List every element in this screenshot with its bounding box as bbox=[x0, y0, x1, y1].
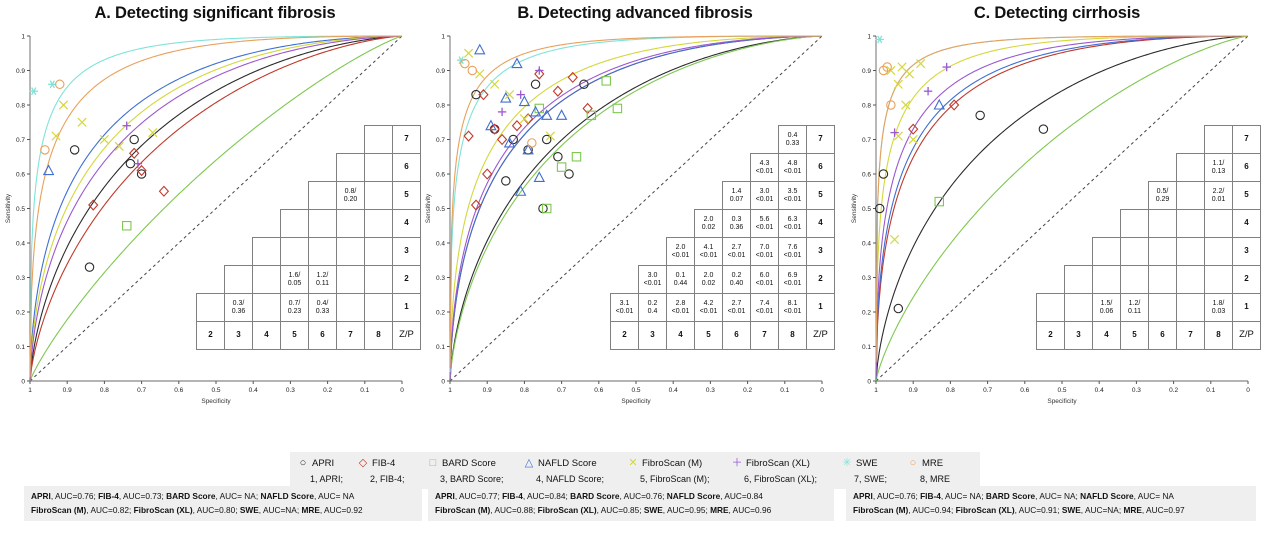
stats-cell-empty bbox=[1121, 154, 1149, 182]
stats-row-header: 5 bbox=[807, 182, 835, 210]
stats-cell-empty bbox=[695, 126, 723, 154]
square-icon: □ bbox=[426, 458, 440, 469]
auc-test-name: FibroScan (XL) bbox=[538, 505, 597, 515]
stats-col-header: 3 bbox=[225, 322, 253, 350]
stats-cell bbox=[281, 210, 309, 238]
svg-text:0.8: 0.8 bbox=[436, 102, 445, 109]
svg-text:0.8: 0.8 bbox=[520, 387, 529, 394]
legend-label: MRE bbox=[922, 458, 943, 469]
stats-cell: 4.1<0.01 bbox=[695, 238, 723, 266]
stats-cell: 0.4/0.33 bbox=[309, 294, 337, 322]
stats-cell-empty bbox=[1065, 210, 1093, 238]
legend-label: FibroScan (XL) bbox=[746, 458, 810, 469]
stats-col-header: 8 bbox=[365, 322, 393, 350]
stats-cell bbox=[253, 238, 281, 266]
stats-cell-empty bbox=[1121, 126, 1149, 154]
stats-corner-label: Z/P bbox=[807, 322, 835, 350]
stats-cell bbox=[1205, 126, 1233, 154]
circle-icon: ○ bbox=[296, 458, 310, 469]
auc-test-name: FIB-4 bbox=[920, 491, 941, 501]
legend-item-swe: ✳SWE bbox=[840, 458, 906, 469]
stats-cell-empty bbox=[197, 126, 225, 154]
svg-text:1: 1 bbox=[28, 387, 32, 394]
auc-value: , AUC=0.82; bbox=[86, 505, 133, 515]
stats-cell-empty bbox=[1121, 182, 1149, 210]
stats-row-header: 5 bbox=[393, 182, 421, 210]
stats-cell: 1.8/0.03 bbox=[1205, 294, 1233, 322]
auc-value: , AUC=0.76; bbox=[873, 491, 920, 501]
stats-cell-empty bbox=[667, 182, 695, 210]
auc-test-name: NAFLD Score bbox=[1080, 491, 1133, 501]
svg-text:0.9: 0.9 bbox=[436, 68, 445, 75]
auc-line: APRI, AUC=0.76; FIB-4, AUC=0.73; BARD Sc… bbox=[31, 490, 415, 504]
stats-row-header: 6 bbox=[393, 154, 421, 182]
svg-text:0: 0 bbox=[441, 378, 445, 385]
stats-row-header: 7 bbox=[807, 126, 835, 154]
stats-cell bbox=[365, 266, 393, 294]
svg-text:0.4: 0.4 bbox=[436, 240, 445, 247]
diamond-icon: ◇ bbox=[356, 458, 370, 469]
svg-text:0.6: 0.6 bbox=[862, 171, 871, 178]
auc-test-name: BARD Score bbox=[166, 491, 215, 501]
svg-text:Sensitivity: Sensitivity bbox=[425, 193, 432, 223]
legend-item-fibroscan-m: ✕FibroScan (M) bbox=[626, 458, 730, 469]
stats-cell-empty bbox=[611, 154, 639, 182]
stats-col-header: 7 bbox=[337, 322, 365, 350]
stats-cell bbox=[1177, 154, 1205, 182]
legend-label: FibroScan (M) bbox=[642, 458, 702, 469]
stats-cell: 7.6<0.01 bbox=[779, 238, 807, 266]
svg-text:Specificity: Specificity bbox=[201, 398, 231, 405]
stats-cell-empty bbox=[225, 126, 253, 154]
stats-cell bbox=[225, 266, 253, 294]
stats-col-header: 5 bbox=[281, 322, 309, 350]
stats-cell: 5.6<0.01 bbox=[751, 210, 779, 238]
stats-col-header: 3 bbox=[639, 322, 667, 350]
auc-test-name: SWE bbox=[1062, 505, 1081, 515]
auc-test-name: MRE bbox=[1123, 505, 1141, 515]
legend-item-mre: ○MRE bbox=[906, 458, 966, 469]
stats-cell-empty bbox=[1037, 126, 1065, 154]
stats-cell: 0.7/0.23 bbox=[281, 294, 309, 322]
svg-text:0.8: 0.8 bbox=[16, 102, 25, 109]
legend-number-item: 6, FibroScan (XL); bbox=[730, 474, 840, 484]
stats-row-header: 7 bbox=[393, 126, 421, 154]
stats-cell-empty bbox=[197, 182, 225, 210]
stats-cell bbox=[337, 294, 365, 322]
svg-text:0.4: 0.4 bbox=[669, 387, 678, 394]
svg-text:Specificity: Specificity bbox=[621, 398, 651, 405]
svg-text:0.2: 0.2 bbox=[436, 309, 445, 316]
auc-value: , AUC=0.85; bbox=[597, 505, 644, 515]
stats-cell-empty bbox=[695, 182, 723, 210]
stats-cell-empty bbox=[1177, 126, 1205, 154]
stats-col-header: 2 bbox=[1037, 322, 1065, 350]
auc-value: , AUC=0.94; bbox=[908, 505, 955, 515]
stats-cell bbox=[1149, 294, 1177, 322]
svg-text:0.7: 0.7 bbox=[983, 387, 992, 394]
legend-item-nafld-score: △NAFLD Score bbox=[522, 458, 626, 469]
stats-cell-empty bbox=[639, 182, 667, 210]
stats-row-header: 2 bbox=[807, 266, 835, 294]
stats-cell: 2.7<0.01 bbox=[723, 294, 751, 322]
auc-line: FibroScan (M), AUC=0.82; FibroScan (XL),… bbox=[31, 504, 415, 518]
stats-cell bbox=[281, 238, 309, 266]
stats-cell: 6.3<0.01 bbox=[779, 210, 807, 238]
auc-line: FibroScan (M), AUC=0.88; FibroScan (XL),… bbox=[435, 504, 827, 518]
stats-cell bbox=[1121, 210, 1149, 238]
stats-cell: 0.30.36 bbox=[723, 210, 751, 238]
stats-col-header: 4 bbox=[253, 322, 281, 350]
svg-text:0.6: 0.6 bbox=[174, 387, 183, 394]
stats-cell: 3.1<0.01 bbox=[611, 294, 639, 322]
auc-value: , AUC=0.88; bbox=[490, 505, 537, 515]
legend-number-item: 7, SWE; bbox=[840, 474, 906, 484]
stats-cell bbox=[1065, 266, 1093, 294]
legend-symbol-row: ○APRI◇FIB-4□BARD Score△NAFLD Score✕Fibro… bbox=[296, 455, 974, 472]
stats-cell bbox=[365, 154, 393, 182]
stats-cell-empty bbox=[1093, 154, 1121, 182]
stats-cell bbox=[365, 182, 393, 210]
stats-cell bbox=[337, 238, 365, 266]
legend-item-bard-score: □BARD Score bbox=[426, 458, 522, 469]
stats-cell bbox=[1149, 210, 1177, 238]
legend-label: SWE bbox=[856, 458, 878, 469]
stats-cell-empty bbox=[751, 126, 779, 154]
stats-cell: 2.8<0.01 bbox=[667, 294, 695, 322]
stats-col-header: 4 bbox=[667, 322, 695, 350]
svg-text:0.9: 0.9 bbox=[909, 387, 918, 394]
stats-cell-empty bbox=[639, 126, 667, 154]
auc-value: , AUC= NA; bbox=[941, 491, 986, 501]
svg-text:0.2: 0.2 bbox=[1169, 387, 1178, 394]
stats-cell-empty bbox=[1065, 154, 1093, 182]
stats-cell: 3.0<0.01 bbox=[751, 182, 779, 210]
svg-text:1: 1 bbox=[448, 387, 452, 394]
stats-cell: 1.2/0.11 bbox=[309, 266, 337, 294]
svg-text:0.8: 0.8 bbox=[862, 102, 871, 109]
stats-cell-empty bbox=[309, 126, 337, 154]
stats-cell: 0.8/0.20 bbox=[337, 182, 365, 210]
auc-test-name: BARD Score bbox=[570, 491, 619, 501]
stats-col-header: 6 bbox=[1149, 322, 1177, 350]
stats-cell-empty bbox=[225, 182, 253, 210]
stats-row-header: 6 bbox=[807, 154, 835, 182]
svg-text:0.3: 0.3 bbox=[706, 387, 715, 394]
auc-test-name: APRI bbox=[853, 491, 873, 501]
auc-test-name: FibroScan (M) bbox=[31, 505, 86, 515]
svg-text:0.8: 0.8 bbox=[100, 387, 109, 394]
stats-col-header: 8 bbox=[779, 322, 807, 350]
stats-cell-empty bbox=[309, 154, 337, 182]
panel-a-title: A. Detecting significant fibrosis bbox=[0, 4, 430, 23]
svg-text:0.7: 0.7 bbox=[862, 137, 871, 144]
auc-value: , AUC=0.91; bbox=[1015, 505, 1062, 515]
auc-test-name: FibroScan (M) bbox=[853, 505, 908, 515]
circle-o-icon: ○ bbox=[906, 458, 920, 469]
stats-cell bbox=[197, 294, 225, 322]
svg-text:0.6: 0.6 bbox=[594, 387, 603, 394]
legend-label: APRI bbox=[312, 458, 334, 469]
stats-cell bbox=[1121, 238, 1149, 266]
stats-col-header: 5 bbox=[695, 322, 723, 350]
stats-cell bbox=[1177, 294, 1205, 322]
stats-cell: 1.40.07 bbox=[723, 182, 751, 210]
svg-text:0.9: 0.9 bbox=[63, 387, 72, 394]
auc-line: FibroScan (M), AUC=0.94; FibroScan (XL),… bbox=[853, 504, 1249, 518]
stats-cell-empty bbox=[695, 154, 723, 182]
legend-item-fib-4: ◇FIB-4 bbox=[356, 458, 426, 469]
triangle-icon: △ bbox=[522, 458, 536, 469]
stats-col-header: 6 bbox=[723, 322, 751, 350]
svg-text:Specificity: Specificity bbox=[1047, 398, 1077, 405]
svg-text:0.4: 0.4 bbox=[249, 387, 258, 394]
stats-cell bbox=[253, 266, 281, 294]
stats-cell bbox=[309, 238, 337, 266]
svg-text:0: 0 bbox=[21, 378, 25, 385]
panel-b-auc-caption: APRI, AUC=0.77; FIB-4, AUC=0.84; BARD Sc… bbox=[428, 486, 834, 521]
stats-col-header: 7 bbox=[751, 322, 779, 350]
stats-cell bbox=[1177, 266, 1205, 294]
stats-cell-empty bbox=[225, 154, 253, 182]
svg-text:0.9: 0.9 bbox=[483, 387, 492, 394]
stats-cell-empty bbox=[1093, 182, 1121, 210]
stats-cell-empty bbox=[337, 126, 365, 154]
stats-cell-empty bbox=[667, 126, 695, 154]
svg-text:0.7: 0.7 bbox=[557, 387, 566, 394]
auc-test-name: MRE bbox=[710, 505, 728, 515]
stats-cell: 0.3/0.36 bbox=[225, 294, 253, 322]
auc-value: , AUC=0.76; bbox=[619, 491, 666, 501]
stats-cell-empty bbox=[667, 210, 695, 238]
stats-corner-label: Z/P bbox=[393, 322, 421, 350]
auc-test-name: SWE bbox=[240, 505, 259, 515]
stats-cell: 4.3<0.01 bbox=[751, 154, 779, 182]
stats-cell: 0.20.4 bbox=[639, 294, 667, 322]
svg-text:0.3: 0.3 bbox=[16, 275, 25, 282]
stats-cell-empty bbox=[1037, 238, 1065, 266]
legend-label: NAFLD Score bbox=[538, 458, 597, 469]
svg-text:0.5: 0.5 bbox=[211, 387, 220, 394]
svg-text:Sensitivity: Sensitivity bbox=[851, 193, 858, 223]
stats-cell-empty bbox=[281, 182, 309, 210]
svg-text:0: 0 bbox=[867, 378, 871, 385]
legend-number-item: 3, BARD Score; bbox=[426, 474, 522, 484]
stats-cell bbox=[1149, 266, 1177, 294]
stats-cell-empty bbox=[1037, 266, 1065, 294]
svg-text:0.7: 0.7 bbox=[16, 137, 25, 144]
auc-value: , AUC=0.76; bbox=[51, 491, 98, 501]
stats-cell-empty bbox=[281, 126, 309, 154]
panel-c-stats-table: 71.1/0.1360.5/0.292.2/0.0154321.5/0.061.… bbox=[1036, 125, 1261, 350]
auc-test-name: NAFLD Score bbox=[667, 491, 720, 501]
cross-x-icon: ✕ bbox=[626, 458, 640, 469]
svg-text:0.7: 0.7 bbox=[436, 137, 445, 144]
svg-text:0.6: 0.6 bbox=[16, 171, 25, 178]
stats-row-header: 4 bbox=[1233, 210, 1261, 238]
auc-value: , AUC=0.84; bbox=[523, 491, 570, 501]
stats-cell: 2.00.02 bbox=[695, 266, 723, 294]
stats-cell-empty bbox=[639, 210, 667, 238]
star-icon: ✳ bbox=[840, 458, 854, 469]
stats-cell: 4.8<0.01 bbox=[779, 154, 807, 182]
stats-cell bbox=[1205, 210, 1233, 238]
stats-col-header: 2 bbox=[611, 322, 639, 350]
stats-col-header: 7 bbox=[1177, 322, 1205, 350]
stats-cell-empty bbox=[197, 238, 225, 266]
stats-cell bbox=[1093, 266, 1121, 294]
stats-corner-label: Z/P bbox=[1233, 322, 1261, 350]
stats-cell bbox=[365, 126, 393, 154]
stats-cell: 0.5/0.29 bbox=[1149, 182, 1177, 210]
stats-cell bbox=[365, 210, 393, 238]
stats-col-header: 2 bbox=[197, 322, 225, 350]
stats-cell-empty bbox=[639, 238, 667, 266]
plus-icon: ＋ bbox=[730, 458, 744, 469]
stats-cell: 1.5/0.06 bbox=[1093, 294, 1121, 322]
stats-cell-empty bbox=[611, 266, 639, 294]
stats-cell: 3.0<0.01 bbox=[639, 266, 667, 294]
auc-value: , AUC= NA bbox=[314, 491, 354, 501]
stats-cell-empty bbox=[667, 154, 695, 182]
stats-cell-empty bbox=[723, 126, 751, 154]
svg-text:0.1: 0.1 bbox=[862, 344, 871, 351]
stats-cell: 1.6/0.05 bbox=[281, 266, 309, 294]
stats-cell-empty bbox=[253, 154, 281, 182]
stats-cell-empty bbox=[611, 126, 639, 154]
stats-cell bbox=[309, 182, 337, 210]
stats-cell-empty bbox=[197, 154, 225, 182]
stats-row-header: 1 bbox=[393, 294, 421, 322]
stats-row-header: 1 bbox=[1233, 294, 1261, 322]
svg-text:0: 0 bbox=[400, 387, 404, 394]
stats-cell: 7.0<0.01 bbox=[751, 238, 779, 266]
svg-text:Sensitivity: Sensitivity bbox=[5, 193, 12, 223]
auc-line: APRI, AUC=0.77; FIB-4, AUC=0.84; BARD Sc… bbox=[435, 490, 827, 504]
svg-text:0.6: 0.6 bbox=[1020, 387, 1029, 394]
svg-text:0.3: 0.3 bbox=[436, 275, 445, 282]
stats-cell bbox=[337, 210, 365, 238]
stats-cell-empty bbox=[253, 126, 281, 154]
stats-cell: 7.4<0.01 bbox=[751, 294, 779, 322]
auc-value: , AUC= NA; bbox=[1035, 491, 1080, 501]
svg-text:0: 0 bbox=[820, 387, 824, 394]
svg-text:0.2: 0.2 bbox=[16, 309, 25, 316]
roc-figure: A. Detecting significant fibrosis 10.90.… bbox=[0, 0, 1268, 533]
auc-test-name: MRE bbox=[301, 505, 319, 515]
auc-value: , AUC= NA bbox=[1134, 491, 1174, 501]
legend-label: BARD Score bbox=[442, 458, 496, 469]
svg-text:0.1: 0.1 bbox=[436, 344, 445, 351]
svg-text:0.9: 0.9 bbox=[16, 68, 25, 75]
stats-cell: 3.5<0.01 bbox=[779, 182, 807, 210]
auc-value: , AUC=0.73; bbox=[119, 491, 166, 501]
stats-row-header: 3 bbox=[1233, 238, 1261, 266]
stats-cell bbox=[1177, 182, 1205, 210]
legend-item-apri: ○APRI bbox=[296, 458, 356, 469]
stats-cell bbox=[1037, 294, 1065, 322]
stats-cell bbox=[1121, 266, 1149, 294]
stats-cell: 2.7<0.01 bbox=[723, 238, 751, 266]
stats-row-header: 3 bbox=[807, 238, 835, 266]
stats-cell: 2.2/0.01 bbox=[1205, 182, 1233, 210]
stats-cell-empty bbox=[197, 210, 225, 238]
panel-a-auc-caption: APRI, AUC=0.76; FIB-4, AUC=0.73; BARD Sc… bbox=[24, 486, 422, 521]
stats-cell-empty bbox=[197, 266, 225, 294]
svg-text:0.4: 0.4 bbox=[16, 240, 25, 247]
panel-c-auc-caption: APRI, AUC=0.76; FIB-4, AUC= NA; BARD Sco… bbox=[846, 486, 1256, 521]
svg-text:1: 1 bbox=[441, 33, 445, 40]
panel-a-stats-table: 760.8/0.205431.6/0.051.2/0.1120.3/0.360.… bbox=[196, 125, 421, 350]
auc-value: , AUC=0.96 bbox=[729, 505, 772, 515]
svg-text:0.5: 0.5 bbox=[16, 206, 25, 213]
stats-col-header: 3 bbox=[1065, 322, 1093, 350]
legend-label: FIB-4 bbox=[372, 458, 395, 469]
stats-cell-empty bbox=[1065, 126, 1093, 154]
stats-row-header: 4 bbox=[393, 210, 421, 238]
stats-cell: 8.1<0.01 bbox=[779, 294, 807, 322]
stats-cell bbox=[365, 238, 393, 266]
stats-cell bbox=[337, 266, 365, 294]
auc-test-name: FibroScan (M) bbox=[435, 505, 490, 515]
stats-row-header: 2 bbox=[1233, 266, 1261, 294]
stats-cell bbox=[1177, 238, 1205, 266]
stats-cell-empty bbox=[253, 182, 281, 210]
stats-col-header: 5 bbox=[1121, 322, 1149, 350]
svg-text:1: 1 bbox=[874, 387, 878, 394]
auc-test-name: FIB-4 bbox=[98, 491, 119, 501]
stats-row-header: 7 bbox=[1233, 126, 1261, 154]
auc-line: APRI, AUC=0.76; FIB-4, AUC= NA; BARD Sco… bbox=[853, 490, 1249, 504]
svg-text:0.8: 0.8 bbox=[946, 387, 955, 394]
legend-number-item: 5, FibroScan (M); bbox=[626, 474, 730, 484]
stats-col-header: 6 bbox=[309, 322, 337, 350]
stats-col-header: 4 bbox=[1093, 322, 1121, 350]
auc-test-name: SWE bbox=[644, 505, 663, 515]
auc-value: , AUC=0.80; bbox=[193, 505, 240, 515]
stats-cell: 1.1/0.13 bbox=[1205, 154, 1233, 182]
stats-cell: 1.2/0.11 bbox=[1121, 294, 1149, 322]
stats-cell bbox=[337, 154, 365, 182]
stats-cell bbox=[1205, 238, 1233, 266]
stats-cell-empty bbox=[253, 210, 281, 238]
stats-cell-empty bbox=[611, 210, 639, 238]
stats-row-header: 3 bbox=[393, 238, 421, 266]
panel-c-title: C. Detecting cirrhosis bbox=[846, 4, 1268, 23]
auc-test-name: APRI bbox=[31, 491, 51, 501]
stats-cell bbox=[1177, 210, 1205, 238]
auc-value: , AUC=0.84 bbox=[720, 491, 763, 501]
auc-test-name: BARD Score bbox=[986, 491, 1035, 501]
auc-test-name: NAFLD Score bbox=[260, 491, 313, 501]
stats-cell: 6.9<0.01 bbox=[779, 266, 807, 294]
stats-cell bbox=[1205, 266, 1233, 294]
svg-text:0.1: 0.1 bbox=[360, 387, 369, 394]
svg-text:0.5: 0.5 bbox=[436, 206, 445, 213]
stats-cell-empty bbox=[611, 182, 639, 210]
auc-test-name: FIB-4 bbox=[502, 491, 523, 501]
stats-cell bbox=[1149, 238, 1177, 266]
stats-cell: 0.40.33 bbox=[779, 126, 807, 154]
stats-cell-empty bbox=[225, 210, 253, 238]
stats-cell-empty bbox=[639, 154, 667, 182]
auc-value: , AUC=0.97 bbox=[1142, 505, 1185, 515]
stats-cell-empty bbox=[1065, 238, 1093, 266]
svg-text:0.5: 0.5 bbox=[862, 206, 871, 213]
stats-cell-empty bbox=[1065, 182, 1093, 210]
stats-cell-empty bbox=[1149, 154, 1177, 182]
stats-row-header: 2 bbox=[393, 266, 421, 294]
